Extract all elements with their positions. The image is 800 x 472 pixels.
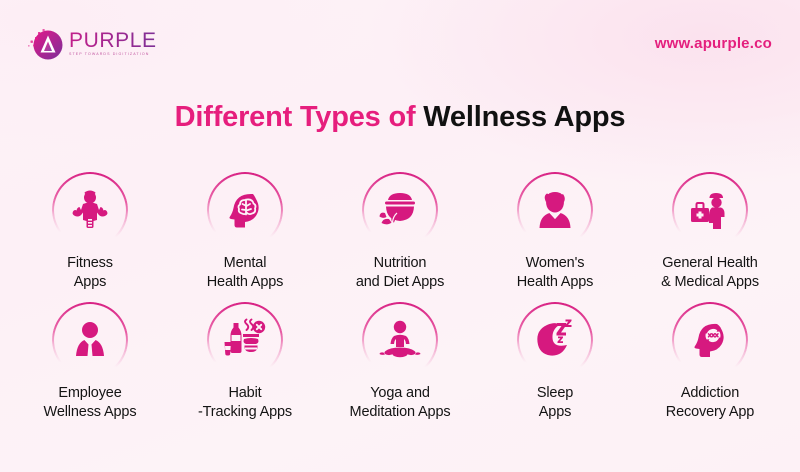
icon-ring	[517, 172, 593, 248]
app-type-label: General Health & Medical Apps	[661, 254, 759, 292]
head-recovery-cycle-icon	[688, 318, 732, 362]
apurple-logo-mark-icon	[26, 24, 64, 62]
app-type-item-general-health[interactable]: General Health & Medical Apps	[634, 172, 786, 292]
app-type-label: Women's Health Apps	[517, 254, 594, 292]
apurple-logo: PURPLE STEP TOWARDS DIGITIZATION	[26, 24, 157, 62]
app-type-item-womens-health[interactable]: Women's Health Apps	[479, 172, 631, 292]
site-url[interactable]: www.apurple.co	[655, 35, 772, 52]
app-type-item-nutrition[interactable]: Nutrition and Diet Apps	[324, 172, 476, 292]
app-type-item-habit-tracking[interactable]: Habit -Tracking Apps	[169, 302, 321, 422]
bodybuilder-icon	[67, 187, 113, 233]
app-type-label: Fitness Apps	[67, 254, 113, 292]
page-title: Different Types of Wellness Apps	[0, 103, 800, 132]
icon-ring	[52, 302, 128, 378]
page-title-accent: Different Types of	[175, 101, 424, 133]
app-type-grid: Fitness Apps	[14, 172, 786, 423]
icon-ring	[362, 302, 438, 378]
app-type-label: Nutrition and Diet Apps	[356, 254, 444, 292]
lotus-pose-icon	[377, 319, 423, 361]
woman-avatar-icon	[534, 188, 576, 232]
apurple-logo-text: PURPLE STEP TOWARDS DIGITIZATION	[69, 30, 157, 57]
app-type-row: Employee Wellness Apps	[14, 302, 786, 422]
infographic-poster: PURPLE STEP TOWARDS DIGITIZATION www.apu…	[0, 0, 800, 472]
employee-tie-icon	[69, 319, 111, 361]
app-type-label: Mental Health Apps	[207, 254, 284, 292]
moon-zzz-icon	[533, 318, 577, 362]
icon-ring	[207, 172, 283, 248]
app-type-label: Addiction Recovery App	[666, 384, 754, 422]
logo-wordmark: PURPLE	[69, 30, 157, 51]
app-type-label: Yoga and Meditation Apps	[350, 384, 451, 422]
app-type-label: Employee Wellness Apps	[44, 384, 137, 422]
poster-header: PURPLE STEP TOWARDS DIGITIZATION www.apu…	[0, 0, 800, 86]
icon-ring	[672, 172, 748, 248]
app-type-item-fitness[interactable]: Fitness Apps	[14, 172, 166, 292]
head-brain-icon	[223, 188, 267, 232]
icon-ring	[517, 302, 593, 378]
app-type-label: Sleep Apps	[537, 384, 573, 422]
app-type-item-addiction-recovery[interactable]: Addiction Recovery App	[634, 302, 786, 422]
icon-ring	[362, 172, 438, 248]
app-type-item-sleep[interactable]: Sleep Apps	[479, 302, 631, 422]
logo-tagline: STEP TOWARDS DIGITIZATION	[69, 53, 157, 57]
app-type-item-yoga-meditation[interactable]: Yoga and Meditation Apps	[324, 302, 476, 422]
junk-food-blocked-icon	[222, 318, 268, 362]
app-type-item-employee-wellness[interactable]: Employee Wellness Apps	[14, 302, 166, 422]
page-title-dark: Wellness Apps	[423, 101, 625, 133]
salad-bowl-icon	[377, 189, 423, 231]
icon-ring	[672, 302, 748, 378]
app-type-item-mental-health[interactable]: Mental Health Apps	[169, 172, 321, 292]
app-type-label: Habit -Tracking Apps	[198, 384, 292, 422]
icon-ring	[207, 302, 283, 378]
doctor-medical-kit-icon	[687, 189, 733, 231]
app-type-row: Fitness Apps	[14, 172, 786, 292]
icon-ring	[52, 172, 128, 248]
